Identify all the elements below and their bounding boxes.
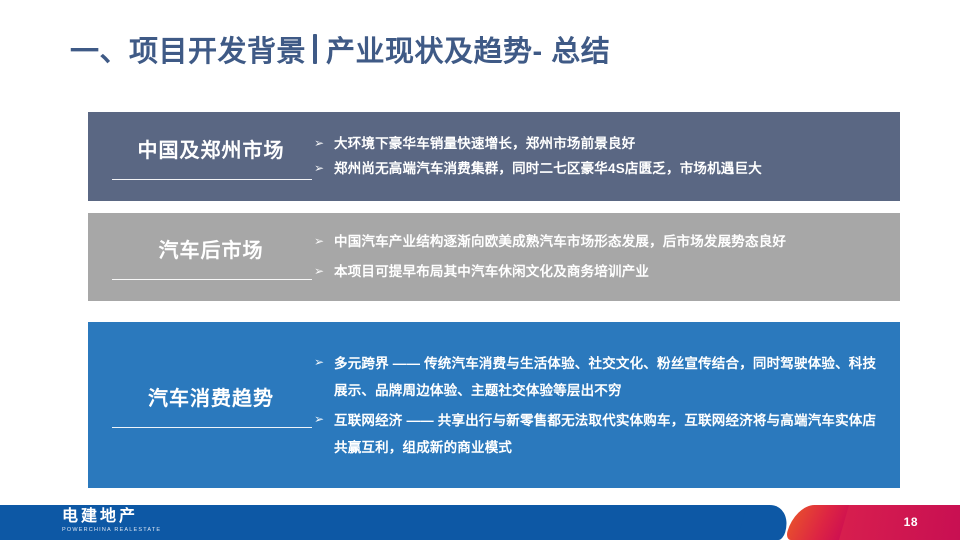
content-block-auto-aftermarket: 汽车后市场 ➢ 中国汽车产业结构逐渐向欧美成熟汽车市场形态发展，后市场发展势态良…: [88, 213, 900, 301]
company-logo-cn: 电建地产: [62, 509, 212, 525]
list-item: ➢ 中国汽车产业结构逐渐向欧美成熟汽车市场形态发展，后市场发展势态良好: [314, 232, 882, 253]
block-label-underline: [112, 279, 312, 280]
chevron-right-bullet-icon: ➢: [314, 350, 334, 374]
list-item-text: 中国汽车产业结构逐渐向欧美成熟汽车市场形态发展，后市场发展势态良好: [334, 232, 882, 253]
block-label-auto-aftermarket: 汽车后市场: [88, 234, 310, 280]
company-logo: 电建地产 POWERCHINA REALESTATE: [62, 509, 212, 534]
list-item: ➢ 互联网经济 —— 共享出行与新零售都无法取代实体购车，互联网经济将与高端汽车…: [314, 407, 882, 461]
list-item-text: 本项目可提早布局其中汽车休闲文化及商务培训产业: [334, 262, 882, 283]
chevron-right-bullet-icon: ➢: [314, 262, 334, 281]
list-item-text: 多元跨界 —— 传统汽车消费与生活体验、社交文化、粉丝宣传结合，同时驾驶体验、科…: [334, 350, 882, 404]
page-title-part-1: 一、项目开发背景: [70, 28, 306, 70]
block-label-text: 汽车后市场: [159, 240, 264, 262]
block-label-text: 中国及郑州市场: [138, 140, 285, 162]
list-item: ➢ 多元跨界 —— 传统汽车消费与生活体验、社交文化、粉丝宣传结合，同时驾驶体验…: [314, 350, 882, 404]
chevron-right-bullet-icon: ➢: [314, 159, 334, 178]
content-block-china-zhengzhou-market: 中国及郑州市场 ➢ 大环境下豪华车销量快速增长，郑州市场前景良好 ➢ 郑州尚无高…: [88, 112, 900, 201]
block-body-auto-aftermarket: ➢ 中国汽车产业结构逐渐向欧美成熟汽车市场形态发展，后市场发展势态良好 ➢ 本项…: [310, 223, 900, 292]
list-item-text: 郑州尚无高端汽车消费集群，同时二七区豪华4S店匮乏，市场机遇巨大: [334, 159, 882, 180]
block-body-china-zhengzhou-market: ➢ 大环境下豪华车销量快速增长，郑州市场前景良好 ➢ 郑州尚无高端汽车消费集群，…: [310, 130, 900, 184]
list-item-text: 大环境下豪华车销量快速增长，郑州市场前景良好: [334, 134, 882, 155]
list-item-text: 互联网经济 —— 共享出行与新零售都无法取代实体购车，互联网经济将与高端汽车实体…: [334, 407, 882, 461]
footer-bar: 电建地产 POWERCHINA REALESTATE 18: [0, 505, 960, 540]
title-separator-bar: [313, 34, 317, 64]
list-item: ➢ 大环境下豪华车销量快速增长，郑州市场前景良好: [314, 134, 882, 155]
block-label-text: 汽车消费趋势: [148, 388, 274, 410]
chevron-right-bullet-icon: ➢: [314, 232, 334, 251]
company-logo-en: POWERCHINA REALESTATE: [62, 528, 212, 534]
chevron-right-bullet-icon: ➢: [314, 407, 334, 431]
chevron-right-bullet-icon: ➢: [314, 134, 334, 153]
block-label-underline: [112, 179, 312, 180]
block-label-auto-consumption-trend: 汽车消费趋势: [88, 382, 310, 428]
block-label-underline: [112, 427, 312, 428]
page-title-part-2: 产业现状及趋势- 总结: [326, 28, 610, 70]
block-body-auto-consumption-trend: ➢ 多元跨界 —— 传统汽车消费与生活体验、社交文化、粉丝宣传结合，同时驾驶体验…: [310, 347, 900, 464]
block-label-china-zhengzhou-market: 中国及郑州市场: [88, 134, 310, 180]
content-block-auto-consumption-trend: 汽车消费趋势 ➢ 多元跨界 —— 传统汽车消费与生活体验、社交文化、粉丝宣传结合…: [88, 322, 900, 488]
list-item: ➢ 郑州尚无高端汽车消费集群，同时二七区豪华4S店匮乏，市场机遇巨大: [314, 159, 882, 180]
page-title: 一、项目开发背景 产业现状及趋势- 总结: [70, 28, 610, 70]
page-number: 18: [904, 515, 918, 529]
list-item: ➢ 本项目可提早布局其中汽车休闲文化及商务培训产业: [314, 262, 882, 283]
